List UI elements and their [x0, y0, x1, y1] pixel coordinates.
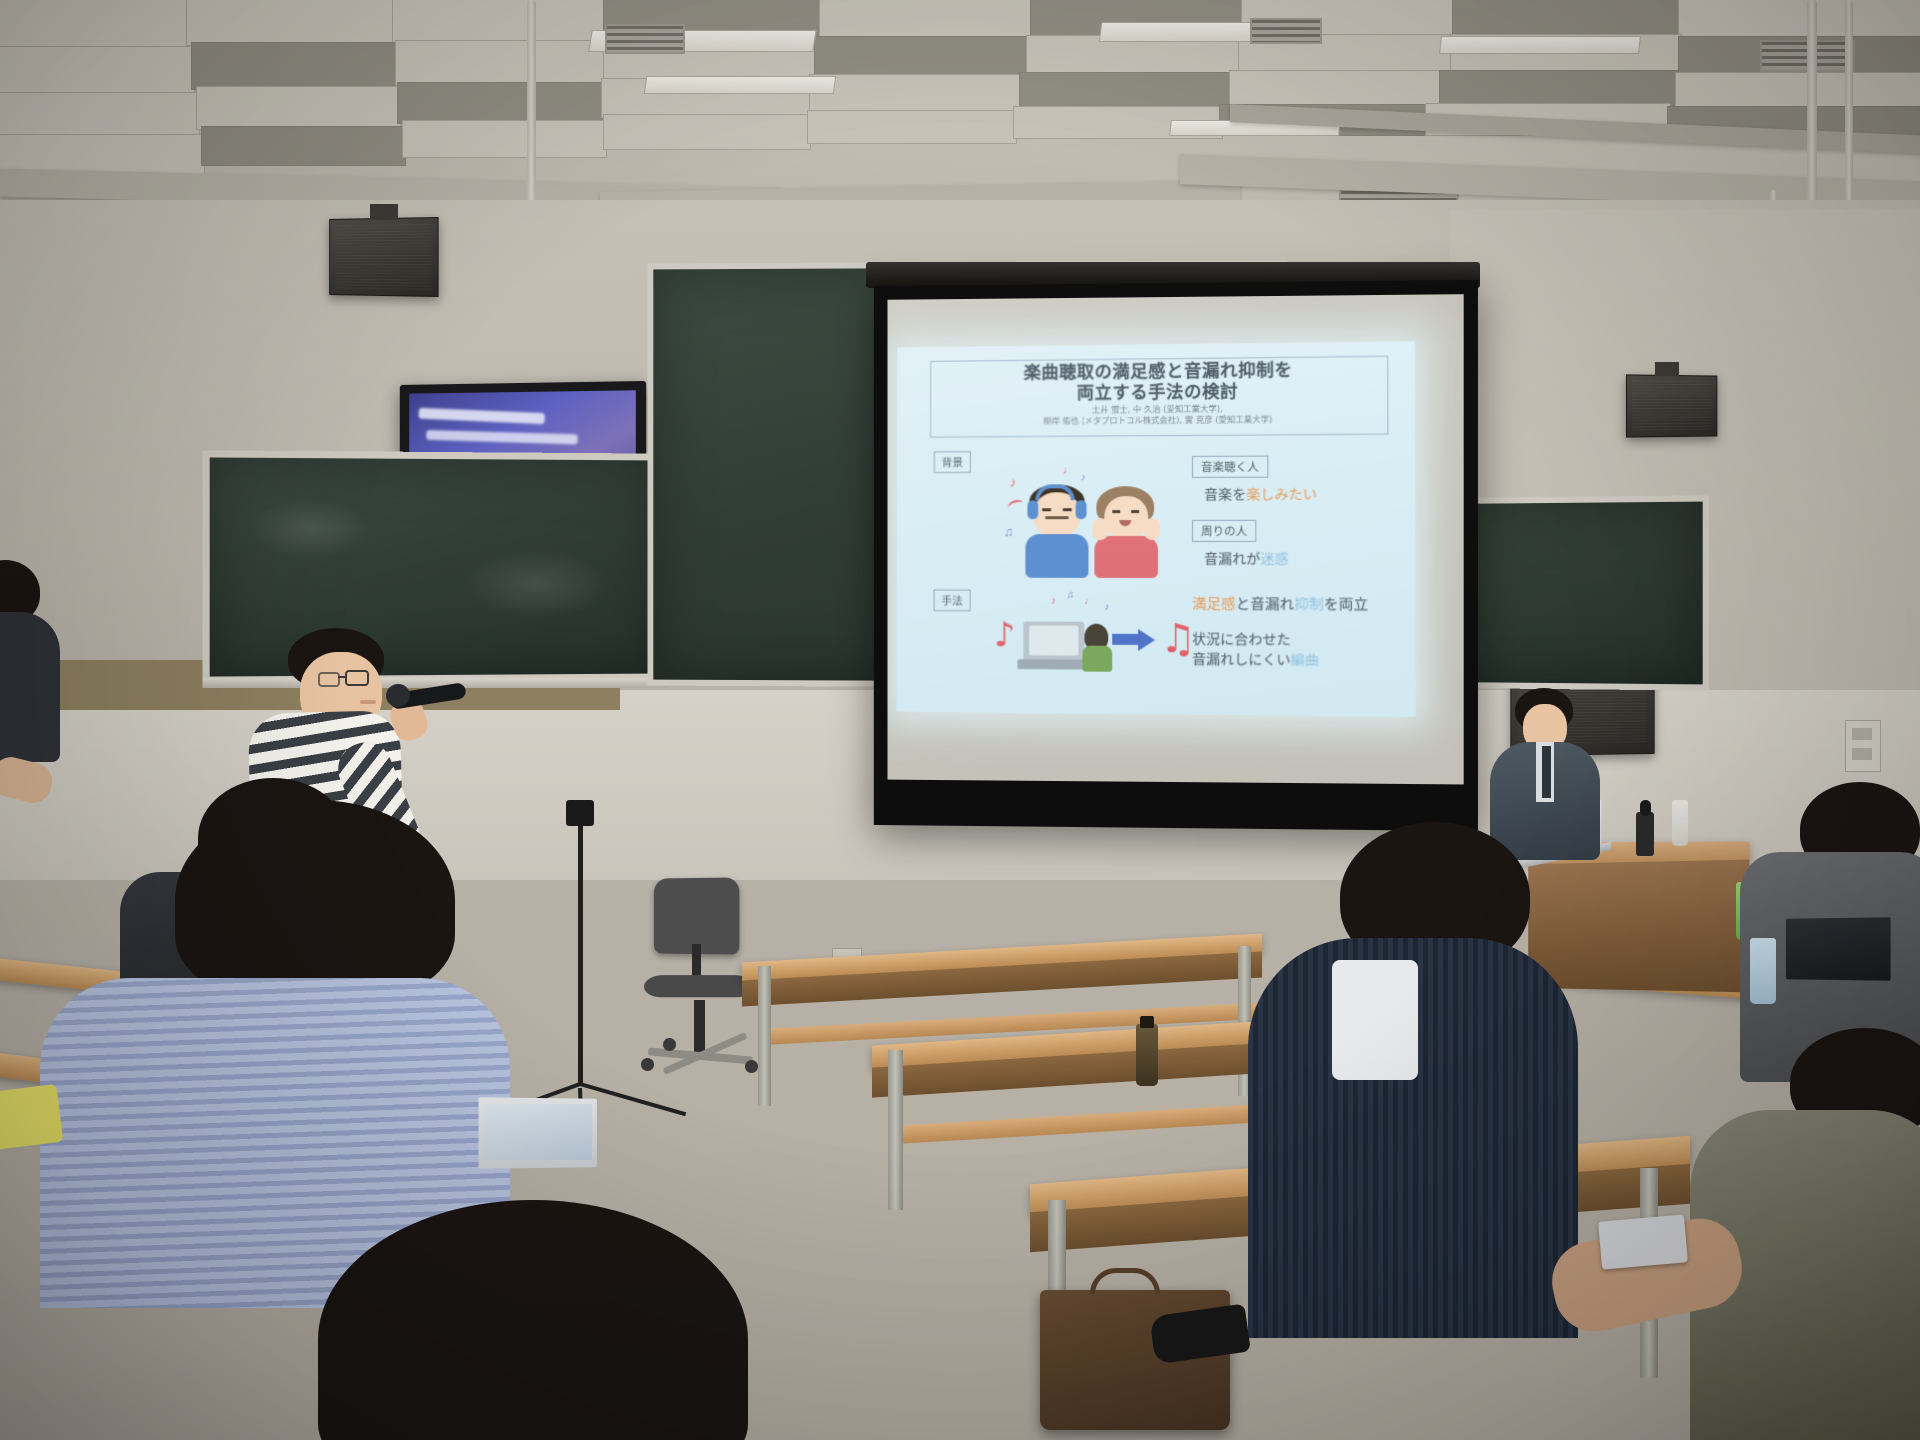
line-annoy: 音漏れが迷惑: [1204, 551, 1289, 569]
ceiling-tile: [186, 0, 396, 46]
ceiling-tile: [392, 0, 607, 44]
wall-outlet: [1852, 728, 1872, 740]
music-note-icon: ♩: [1084, 596, 1093, 606]
speaker-mount: [370, 204, 398, 220]
ceiling-light: [644, 76, 837, 94]
person-hand: [1092, 518, 1108, 540]
line-enjoy-highlight: 楽しみたい: [1246, 487, 1317, 503]
ceiling-tile: [0, 92, 200, 138]
ceiling-tile: [196, 86, 401, 130]
ceiling-tile-dark: [191, 42, 399, 90]
water-bottle: [1672, 800, 1688, 846]
ceiling-tile: [807, 110, 1017, 144]
podium-body: [1528, 860, 1749, 993]
ceiling-conduit: [527, 0, 536, 200]
ceiling-tile: [809, 74, 1023, 112]
speaker-grill: [1632, 380, 1712, 431]
music-note-icon: ♪: [1081, 472, 1086, 483]
person-body: [1025, 534, 1088, 578]
ceiling-tile: [1675, 72, 1920, 110]
line-both-a: 満足感: [1192, 597, 1236, 613]
music-note-icon: ♫: [1160, 616, 1196, 662]
person-hand: [1144, 518, 1160, 540]
projected-slide: 楽曲聴取の満足感と音漏れ抑制を 両立する手法の検討 土井 蛍士, 中 久治 (愛…: [896, 341, 1415, 717]
person-head: [1104, 496, 1148, 540]
ceiling-tile: [402, 120, 607, 158]
section-tag-method: 手法: [934, 589, 971, 611]
projection-screen: 楽曲聴取の満足感と音漏れ抑制を 両立する手法の検討 土井 蛍士, 中 久治 (愛…: [874, 280, 1478, 831]
smartphone: [1598, 1214, 1688, 1269]
line-situation-2: 音漏れしにくい編曲: [1192, 651, 1319, 670]
ceiling-light: [1439, 36, 1641, 54]
presenter-mouth: [360, 700, 376, 704]
person-body: [1082, 646, 1112, 672]
music-note-icon: ♪: [1010, 475, 1016, 490]
chalk-smudge: [251, 498, 372, 559]
music-note-icon: ♪: [1104, 602, 1109, 613]
chair-post: [692, 944, 701, 976]
ceiling-tile: [1229, 70, 1443, 106]
speaker-mount: [1655, 362, 1679, 376]
ceiling-vent: [1250, 18, 1322, 44]
person-mouth: [1045, 516, 1069, 519]
line-both-c: 抑制: [1294, 597, 1323, 613]
ceiling-tile-dark: [1439, 70, 1679, 106]
audience-head-foreground: [175, 800, 455, 1000]
chairperson-tie: [1542, 746, 1551, 798]
person-body: [1094, 536, 1158, 578]
laptop-lid-dark: [1786, 917, 1891, 981]
chair-wheel: [745, 1060, 758, 1073]
office-chair-back: [654, 877, 739, 954]
label-bystander: 周りの人: [1192, 520, 1256, 542]
screen-surface: 楽曲聴取の満足感と音漏れ抑制を 両立する手法の検討 土井 蛍士, 中 久治 (愛…: [888, 294, 1464, 784]
screen-glare: [426, 430, 578, 444]
glasses-bridge: [338, 676, 347, 678]
person-eye: [1131, 510, 1139, 513]
ceiling-tile-dark: [397, 82, 605, 124]
ceiling-tile: [0, 0, 190, 50]
line-situation-2-highlight: 編曲: [1291, 653, 1319, 669]
illustration-two-listeners: ♪ ♫ ♩ ♪ ♪: [1002, 462, 1180, 582]
ceiling-vent: [605, 24, 685, 54]
line-both: 満足感と音漏れ抑制を両立: [1192, 596, 1368, 615]
line-annoy-highlight: 迷惑: [1260, 552, 1288, 568]
illustration-method: ♪ ♪ ♫ ♩ ♪ ♫: [994, 594, 1192, 695]
microphone-head: [1640, 800, 1651, 816]
briefcase-handle: [1090, 1268, 1160, 1294]
microphone-stand-pole: [578, 818, 583, 1086]
chalkboard-left: [202, 450, 665, 683]
chair-wheel: [663, 1038, 676, 1051]
ceiling-tile: [0, 46, 195, 96]
computer-base: [1017, 659, 1092, 670]
music-note-icon: ♫: [1004, 524, 1014, 539]
wall-outlet: [1852, 748, 1872, 760]
person-eye: [1112, 510, 1120, 513]
glasses-lens: [345, 670, 369, 686]
line-annoy-prefix: 音漏れが: [1204, 552, 1260, 568]
water-bottle-on-desk: [1750, 938, 1776, 1004]
music-note-icon: ♪: [994, 615, 1015, 655]
desk-leg: [758, 966, 771, 1106]
ceiling-tile-dark: [1452, 0, 1682, 38]
computer-screen: [1029, 625, 1078, 655]
glasses-lens: [318, 672, 340, 687]
wall-speaker-right: [1626, 374, 1717, 437]
laptop-screen: [484, 1104, 592, 1160]
bottle-cap: [1140, 1016, 1154, 1028]
ceiling-tile: [819, 0, 1034, 40]
microphone-on-podium: [1636, 812, 1654, 856]
sound-wave-icon: [1007, 498, 1025, 512]
chalk-smudge: [462, 549, 610, 619]
line-situation-2-prefix: 音漏れしにくい: [1192, 652, 1291, 669]
yellow-bag: [0, 1084, 63, 1150]
ceiling-tile: [603, 114, 811, 150]
line-both-b: と音漏れ: [1236, 597, 1295, 613]
desk-leg: [888, 1050, 903, 1210]
line-enjoy: 音楽を楽しみたい: [1204, 486, 1317, 504]
audience-body: [0, 612, 60, 762]
ceiling-tile: [1678, 0, 1920, 40]
line-both-d: を両立: [1324, 598, 1368, 614]
music-note-icon: ♩: [1063, 464, 1074, 476]
bottle-on-desk: [1136, 1024, 1158, 1086]
headphone-cup: [1027, 500, 1038, 519]
ceiling-tile-dark: [1019, 72, 1233, 109]
section-tag-background: 背景: [934, 451, 971, 473]
screen-glare: [418, 408, 544, 424]
slide-authors: 土井 蛍士, 中 久治 (愛知工業大学), 柳岸 佑也 (メタプロトコル株式会社…: [930, 402, 1390, 427]
wall-speaker-left: [329, 217, 438, 297]
person-eye: [1063, 508, 1072, 511]
audience-shirt-collar: [1332, 960, 1418, 1080]
microphone-stand-head: [566, 800, 594, 826]
ceiling-tile-dark: [201, 126, 406, 166]
person-eye: [1042, 508, 1051, 511]
label-listener: 音楽聴く人: [1192, 455, 1268, 477]
line-enjoy-prefix: 音楽を: [1204, 488, 1246, 504]
chair-wheel: [641, 1058, 654, 1071]
lecture-hall-photo: 楽曲聴取の満足感と音漏れ抑制を 両立する手法の検討 土井 蛍士, 中 久治 (愛…: [0, 0, 1920, 1440]
ceiling-tile: [395, 40, 607, 86]
music-note-icon: ♪: [1051, 596, 1056, 607]
headphone-cup: [1076, 500, 1087, 519]
office-chair-seat: [643, 975, 755, 997]
speaker-grill: [335, 224, 432, 289]
music-note-icon: ♫: [1067, 590, 1074, 601]
line-situation-1: 状況に合わせた: [1192, 631, 1291, 650]
arrow-icon: [1138, 629, 1155, 651]
ceiling-tile-dark: [814, 36, 1030, 78]
slide-title: 楽曲聴取の満足感と音漏れ抑制を 両立する手法の検討: [936, 360, 1384, 406]
arrow-shaft: [1112, 634, 1138, 645]
